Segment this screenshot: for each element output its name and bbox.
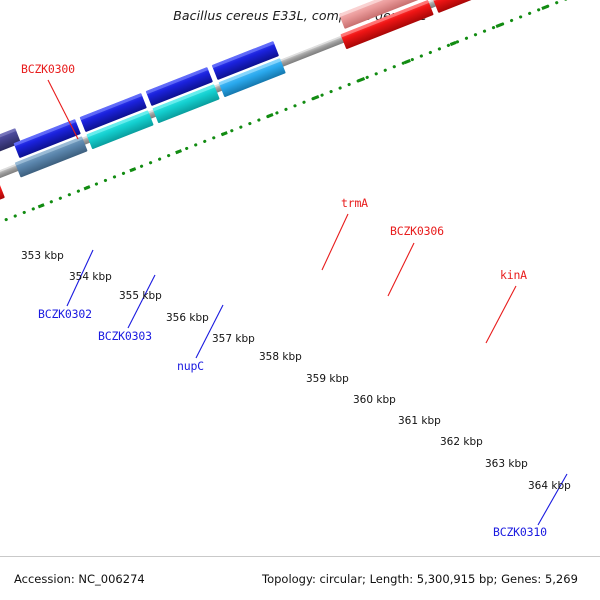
tick-label-361: 361 kbp <box>398 415 441 427</box>
topology-text: Topology: circular; Length: 5,300,915 bp… <box>262 572 578 586</box>
genome-map-canvas[interactable] <box>0 0 600 600</box>
tick-label-356: 356 kbp <box>166 312 209 324</box>
tick-label-364: 364 kbp <box>528 480 571 492</box>
genome-axis-backbone[interactable] <box>0 0 600 185</box>
leader-line-kina <box>486 286 516 343</box>
genome-map-viewer: Bacillus cereus E33L, complete genome <box>0 0 600 600</box>
tick-label-354: 354 kbp <box>69 271 112 283</box>
accession-text: Accession: NC_006274 <box>14 572 145 586</box>
footer-divider <box>0 556 600 557</box>
gene-label-bczk0300[interactable]: BCZK0300 <box>21 62 75 76</box>
tick-label-362: 362 kbp <box>440 436 483 448</box>
leader-line-bczk0306 <box>388 243 414 296</box>
gene-label-bczk0303[interactable]: BCZK0303 <box>98 329 152 343</box>
tick-label-357: 357 kbp <box>212 333 255 345</box>
tick-label-360: 360 kbp <box>353 394 396 406</box>
tick-label-353: 353 kbp <box>21 250 64 262</box>
tick-label-359: 359 kbp <box>306 373 349 385</box>
gene-label-trma[interactable]: trmA <box>341 196 368 210</box>
tick-label-363: 363 kbp <box>485 458 528 470</box>
tick-label-358: 358 kbp <box>259 351 302 363</box>
gene-label-bczk0302[interactable]: BCZK0302 <box>38 307 92 321</box>
gene-feature-layer[interactable] <box>0 0 600 211</box>
gene-label-bczk0306[interactable]: BCZK0306 <box>390 224 444 238</box>
gene-feature[interactable] <box>0 183 5 208</box>
gene-feature[interactable] <box>433 0 495 13</box>
gene-label-kina[interactable]: kinA <box>500 268 527 282</box>
tick-label-355: 355 kbp <box>119 290 162 302</box>
leader-line-trma <box>322 214 348 270</box>
gene-label-nupc[interactable]: nupC <box>177 359 204 373</box>
gene-label-bczk0310[interactable]: BCZK0310 <box>493 525 547 539</box>
